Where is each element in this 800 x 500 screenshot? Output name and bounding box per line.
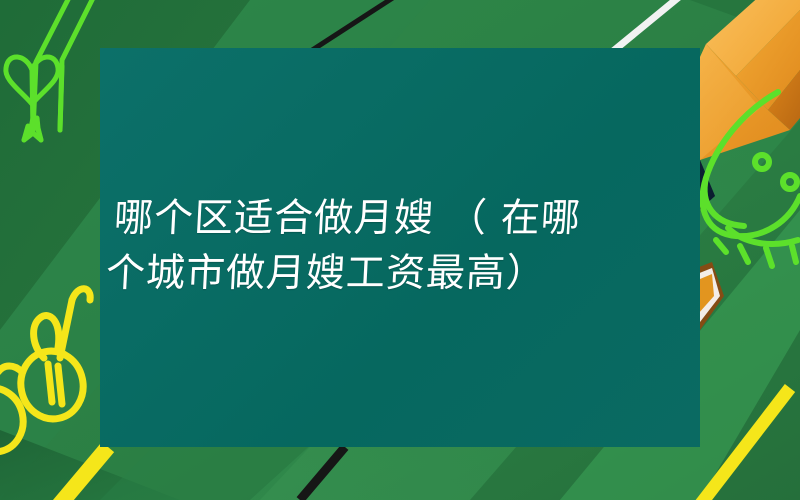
title-line-2: 个城市做月嫂工资最高） [103,246,698,301]
title-card-canvas: 哪个区适合做月嫂 （ 在哪 个城市做月嫂工资最高） [0,0,800,500]
title-block: 哪个区适合做月嫂 （ 在哪 个城市做月嫂工资最高） [100,191,700,301]
title-line-1: 哪个区适合做月嫂 （ 在哪 [103,191,698,246]
title-panel: 哪个区适合做月嫂 （ 在哪 个城市做月嫂工资最高） [100,48,700,447]
